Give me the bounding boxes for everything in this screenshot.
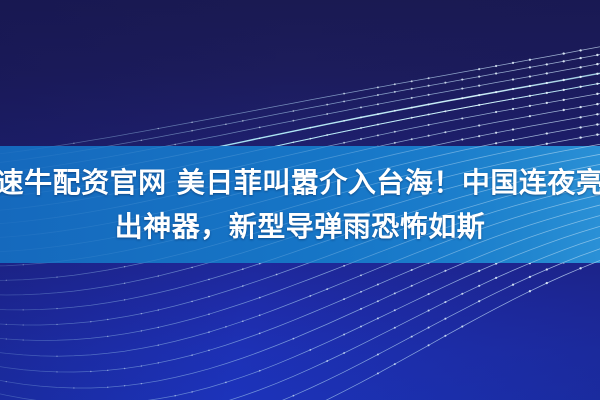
promo-banner: 速牛配资官网 美日菲叫嚣介入台海！中国连夜亮 出神器，新型导弹雨恐怖如斯 — [0, 0, 600, 400]
headline-text: 速牛配资官网 美日菲叫嚣介入台海！中国连夜亮 出神器，新型导弹雨恐怖如斯 — [0, 146, 600, 263]
headline-line-1: 速牛配资官网 美日菲叫嚣介入台海！中国连夜亮 — [0, 161, 600, 205]
headline-line-2: 出神器，新型导弹雨恐怖如斯 — [115, 205, 486, 249]
